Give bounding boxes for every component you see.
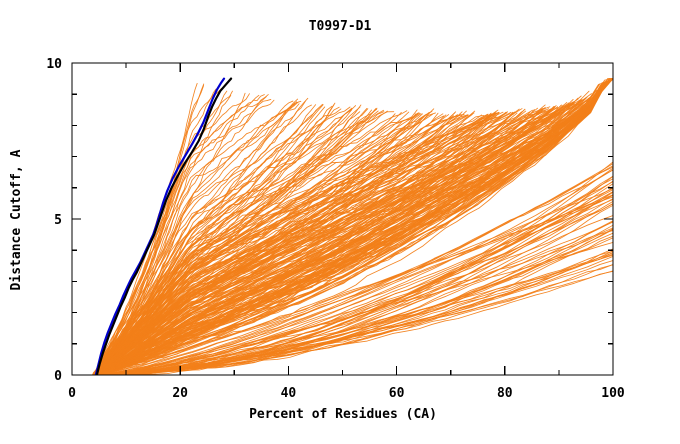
x-tick-label: 40 xyxy=(281,386,297,401)
x-axis-label: Percent of Residues (CA) xyxy=(249,407,437,422)
y-tick-label: 0 xyxy=(54,369,62,384)
distance-cutoff-plot: T0997-D1 Distance Cutoff, A Percent of R… xyxy=(0,0,680,440)
y-axis-label: Distance Cutoff, A xyxy=(9,149,24,290)
chart-figure: T0997-D1 Distance Cutoff, A Percent of R… xyxy=(0,0,680,440)
page-title: T0997-D1 xyxy=(309,19,372,34)
x-tick-label: 20 xyxy=(172,386,188,401)
x-tick-label: 100 xyxy=(601,386,625,401)
x-tick-label: 60 xyxy=(389,386,405,401)
y-tick-label: 5 xyxy=(54,213,62,228)
x-tick-label: 80 xyxy=(497,386,513,401)
x-tick-label: 0 xyxy=(68,386,76,401)
y-tick-label: 10 xyxy=(46,57,62,72)
